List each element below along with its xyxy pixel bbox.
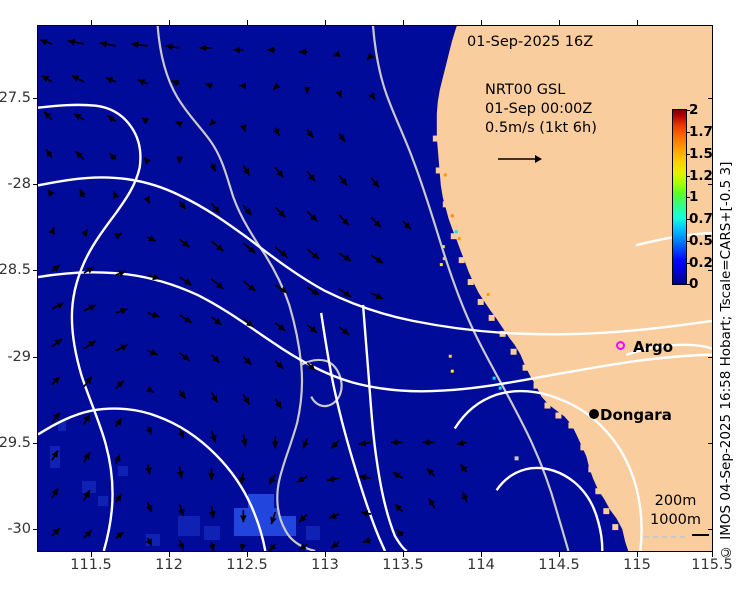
argo-marker-icon[interactable] (616, 341, 625, 350)
colorbar-tick: 2 (689, 102, 698, 118)
date-stamp: 01-Sep-2025 16Z (467, 34, 593, 50)
depth-legend-lines (642, 532, 710, 546)
dongara-marker-icon[interactable] (589, 409, 599, 419)
colorbar (672, 109, 687, 285)
x-tick-label: 112.5 (226, 557, 268, 573)
depth-legend: 200m 1000m (650, 492, 701, 530)
y-tick-label: -27.5 (0, 90, 31, 106)
y-tick-label: -30 (7, 521, 31, 537)
x-tick-label: 111.5 (70, 557, 112, 573)
y-tick-label: -29.5 (0, 435, 31, 451)
colorbar-tick: 0 (689, 276, 698, 292)
x-tick-label: 115 (623, 557, 651, 573)
colorbar-tick: 1.25 (689, 168, 713, 184)
x-tick-label: 114.5 (538, 557, 580, 573)
figure-canvas: 01-Sep-2025 16Z NRT00 GSL 01-Sep 00:00Z … (0, 0, 740, 592)
colorbar-tick: 1.5 (689, 146, 713, 162)
map-plot-area[interactable]: 01-Sep-2025 16Z NRT00 GSL 01-Sep 00:00Z … (37, 25, 713, 552)
colorbar-tick: 0.75 (689, 211, 713, 227)
vector-scale: 0.5m/s (1kt 6h) (485, 119, 597, 138)
y-tick-label: -29 (7, 349, 31, 365)
model-info-block: NRT00 GSL 01-Sep 00:00Z 0.5m/s (1kt 6h) (485, 81, 597, 138)
y-tick-label: -28 (7, 176, 31, 192)
colorbar-tick: 1 (689, 189, 698, 205)
depth-1000m-label: 1000m (650, 511, 701, 530)
dongara-label: Dongara (600, 406, 672, 424)
y-tick-label: -28.5 (0, 262, 31, 278)
colorbar-tick: 0.5 (689, 233, 713, 249)
x-tick-label: 113 (311, 557, 339, 573)
x-tick-label: 112 (155, 557, 183, 573)
model-time: 01-Sep 00:00Z (485, 100, 597, 119)
model-name: NRT00 GSL (485, 81, 597, 100)
reference-arrow-icon (497, 152, 543, 166)
credit-text: © IMOS 04-Sep-2025 16:58 Hobart; Tscale=… (718, 160, 738, 560)
x-tick-label: 114 (467, 557, 495, 573)
surface-velocity-vectors (38, 26, 712, 551)
argo-label: Argo (633, 338, 673, 356)
x-tick-label: 113.5 (382, 557, 424, 573)
colorbar-tick: 0.25 (689, 255, 713, 271)
colorbar-tick: 1.75 (689, 124, 713, 140)
depth-200m-label: 200m (650, 492, 701, 511)
